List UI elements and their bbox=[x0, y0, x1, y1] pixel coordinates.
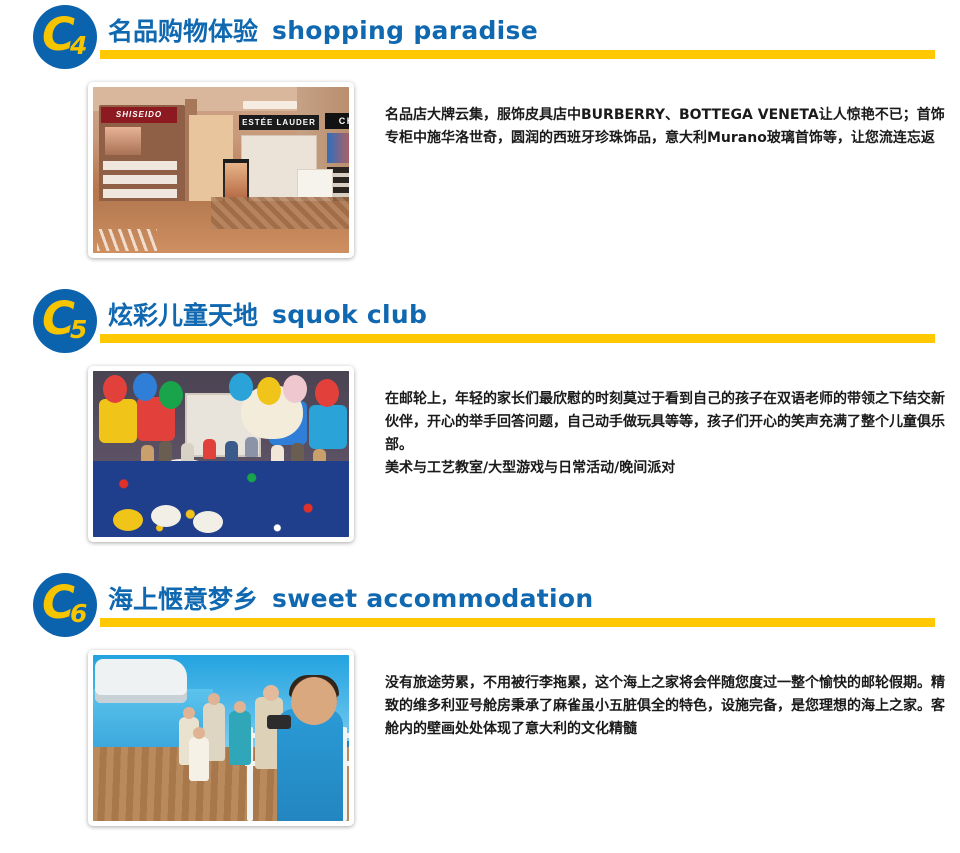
section-shopping-paradise: C 4 名品购物体验shopping paradise SHISEIDO bbox=[0, 0, 960, 284]
section-badge-c4: C 4 bbox=[33, 5, 97, 69]
camcorder-icon bbox=[267, 715, 291, 729]
badge-letter: C bbox=[42, 580, 73, 625]
section-badge-c5: C 5 bbox=[33, 289, 97, 353]
kids-club-activity-room-photo bbox=[93, 371, 349, 537]
section-sweet-accommodation: C 6 海上惬意梦乡sweet accommodation bbox=[0, 568, 960, 853]
section-title-en: sweet accommodation bbox=[272, 584, 593, 613]
section-body: SHISEIDO ESTÉE LAUDER CHANEL bbox=[0, 74, 960, 284]
photo-frame-deck bbox=[88, 650, 354, 826]
section-title-cn: 名品购物体验 bbox=[108, 12, 258, 48]
badge-number: 6 bbox=[70, 601, 87, 626]
photo-frame-shopping: SHISEIDO ESTÉE LAUDER CHANEL bbox=[88, 82, 354, 258]
section-badge-c6: C 6 bbox=[33, 573, 97, 637]
section-squok-club: C 5 炫彩儿童天地squok club bbox=[0, 284, 960, 568]
badge-letter: C bbox=[42, 12, 73, 57]
section-title: 名品购物体验shopping paradise bbox=[108, 12, 538, 48]
estee-lauder-sign: ESTÉE LAUDER bbox=[239, 115, 319, 130]
photo-frame-kids-club bbox=[88, 366, 354, 542]
badge-letter: C bbox=[42, 296, 73, 341]
section-description: 没有旅途劳累，不用被行李拖累，这个海上之家将会伴随您度过一整个愉快的邮轮假期。精… bbox=[385, 672, 945, 741]
duty-free-shopping-arcade-photo: SHISEIDO ESTÉE LAUDER CHANEL bbox=[93, 87, 349, 253]
section-title: 炫彩儿童天地squok club bbox=[108, 296, 427, 332]
section-body: 没有旅途劳累，不用被行李拖累，这个海上之家将会伴随您度过一整个愉快的邮轮假期。精… bbox=[0, 642, 960, 852]
badge-number: 4 bbox=[70, 33, 87, 58]
page-root: C 4 名品购物体验shopping paradise SHISEIDO bbox=[0, 0, 960, 853]
section-description: 在邮轮上，年轻的家长们最欣慰的时刻莫过于看到自己的孩子在双语老师的带领之下结交新… bbox=[385, 388, 945, 480]
section-title-en: squok club bbox=[272, 300, 427, 329]
section-title: 海上惬意梦乡sweet accommodation bbox=[108, 580, 593, 616]
section-header: C 4 名品购物体验shopping paradise bbox=[0, 0, 960, 74]
header-rule bbox=[100, 50, 935, 59]
header-rule bbox=[100, 618, 935, 627]
section-description: 名品店大牌云集，服饰皮具店中BURBERRY、BOTTEGA VENETA让人惊… bbox=[385, 104, 945, 150]
section-title-cn: 海上惬意梦乡 bbox=[108, 580, 258, 616]
family-on-ship-deck-photo bbox=[93, 655, 349, 821]
section-header: C 6 海上惬意梦乡sweet accommodation bbox=[0, 568, 960, 642]
chanel-sign: CHANEL bbox=[325, 113, 349, 129]
section-header: C 5 炫彩儿童天地squok club bbox=[0, 284, 960, 358]
header-rule bbox=[100, 334, 935, 343]
badge-number: 5 bbox=[70, 317, 87, 342]
section-title-cn: 炫彩儿童天地 bbox=[108, 296, 258, 332]
section-body: 在邮轮上，年轻的家长们最欣慰的时刻莫过于看到自己的孩子在双语老师的带领之下结交新… bbox=[0, 358, 960, 568]
shiseido-sign: SHISEIDO bbox=[101, 107, 177, 123]
section-title-en: shopping paradise bbox=[272, 16, 538, 45]
